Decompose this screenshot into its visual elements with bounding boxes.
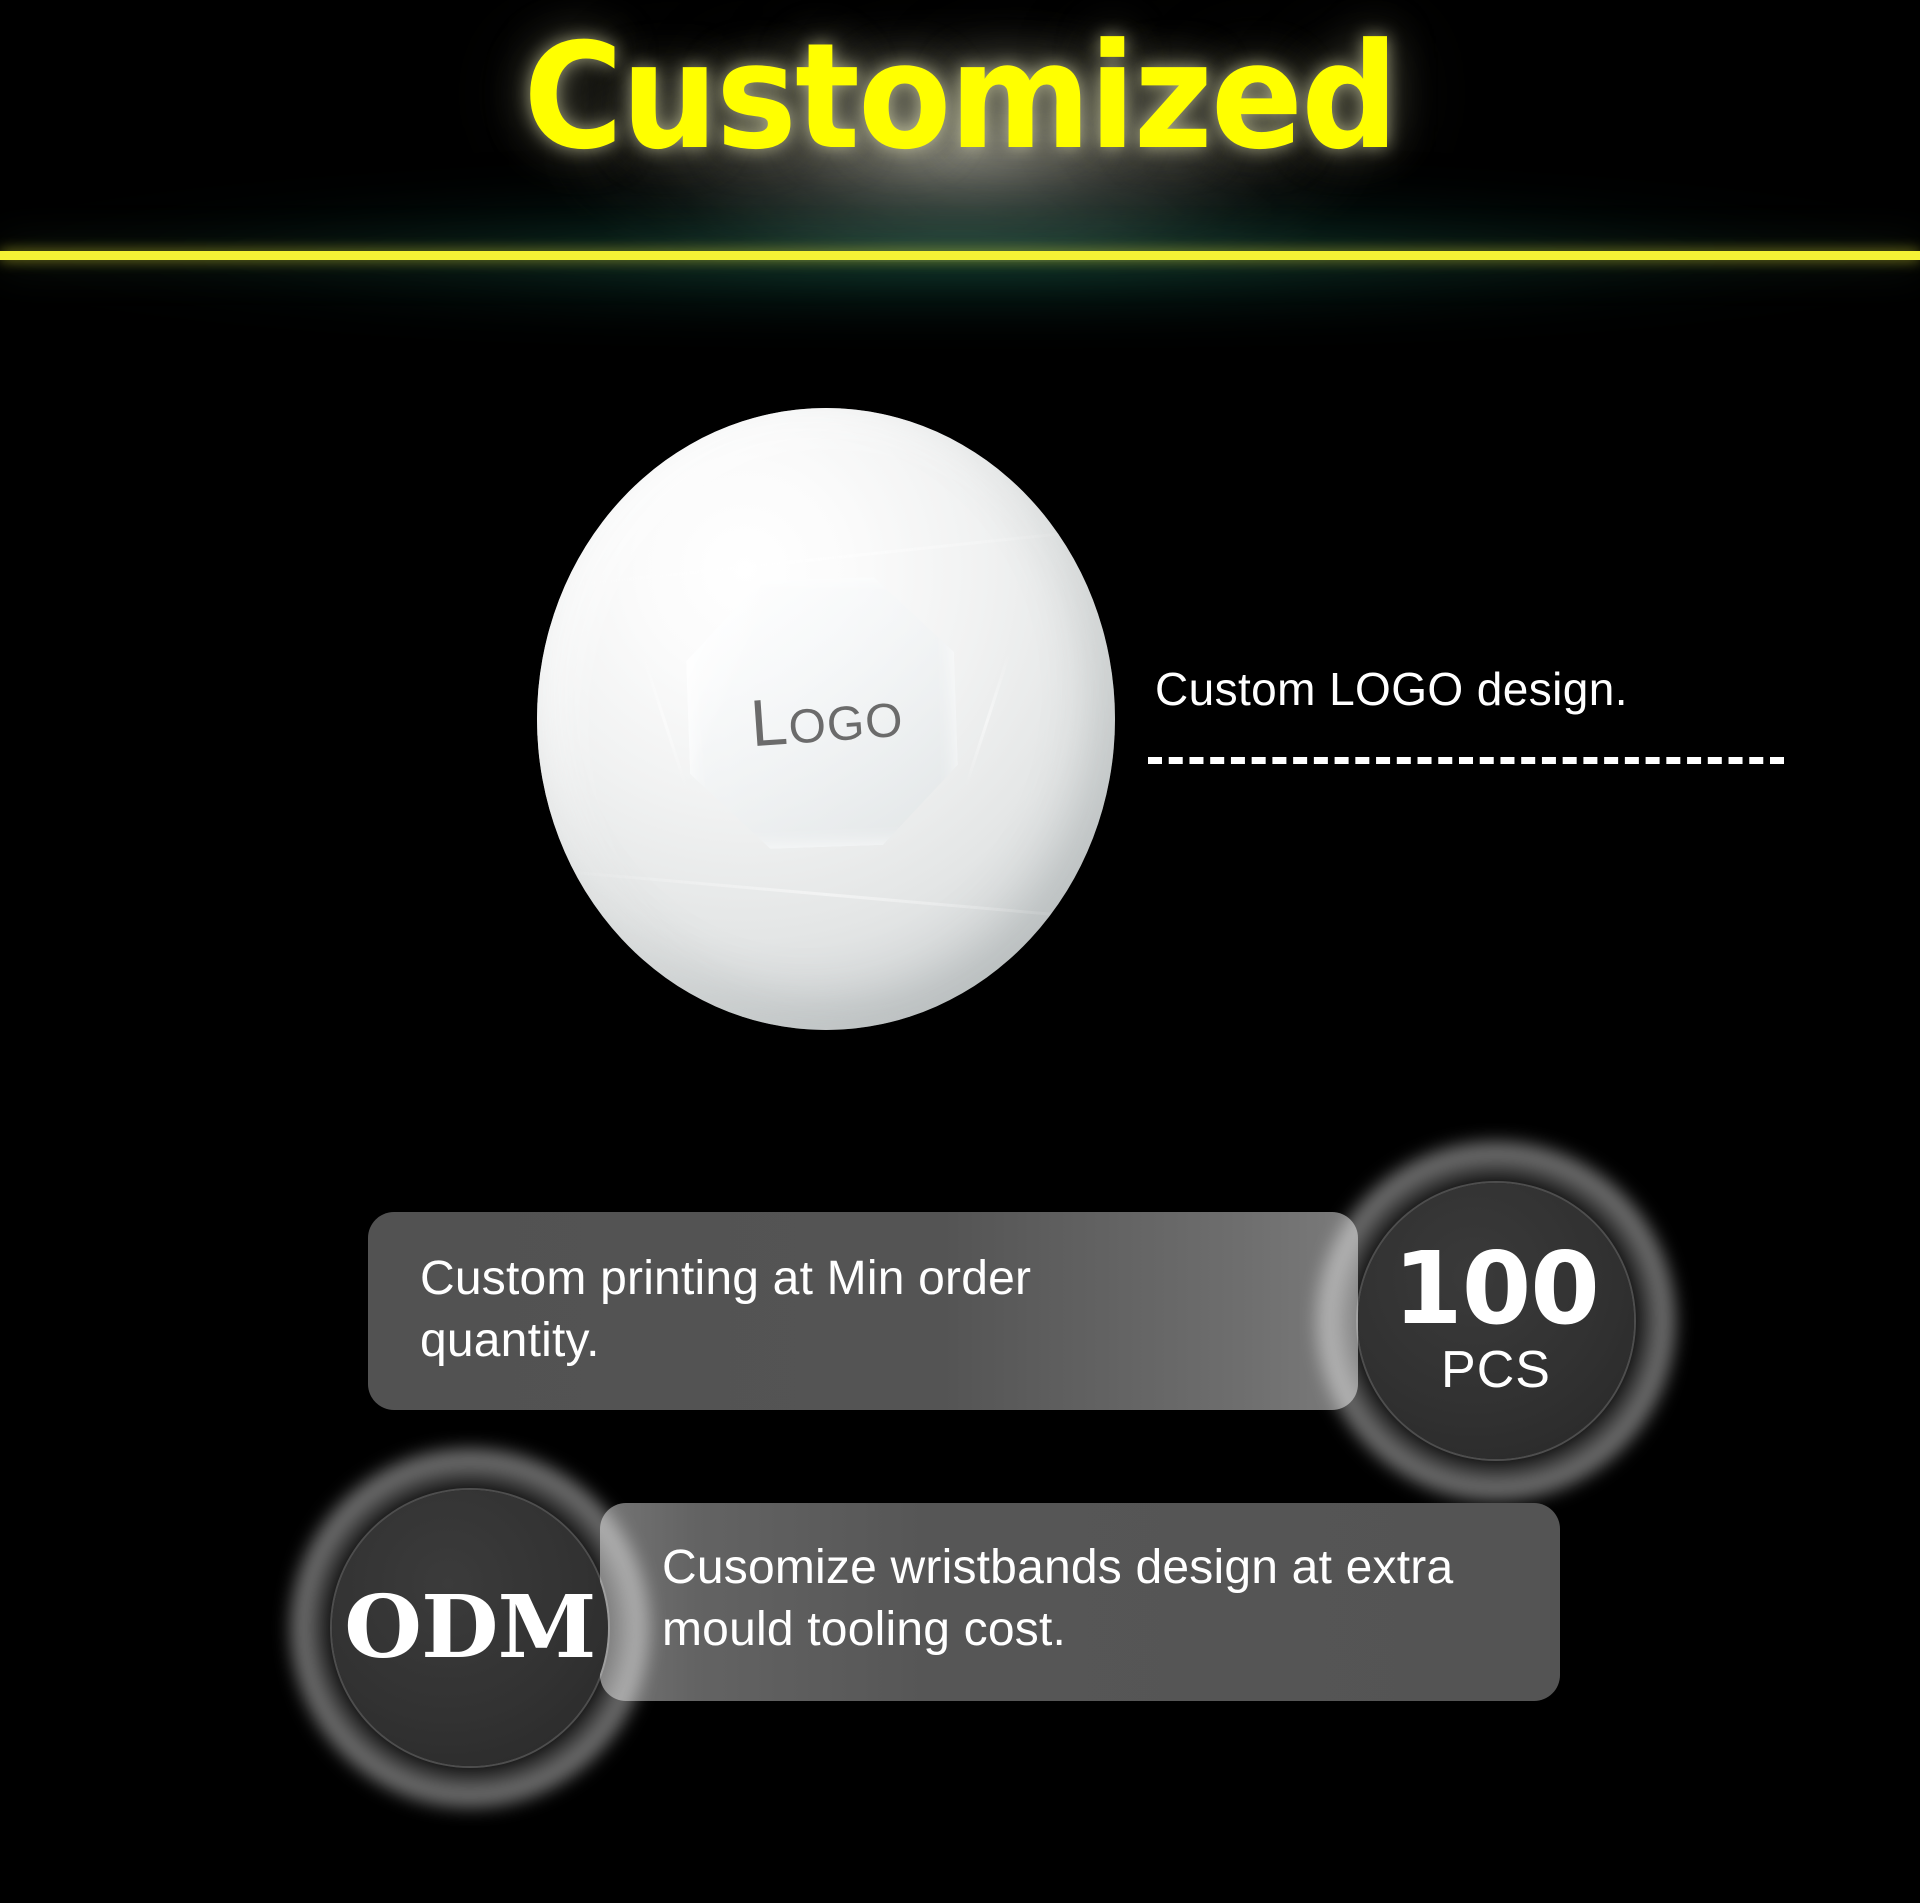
page-title: Customized xyxy=(67,22,1853,172)
callout-leader-line-dashed xyxy=(1148,757,1784,764)
ball-logo-first-letter: L xyxy=(748,684,791,760)
badge-number: 100 xyxy=(1358,1237,1634,1341)
feature-row-odm: Cusomize wristbands design at extra moul… xyxy=(0,1448,1920,1748)
header-band: Customized xyxy=(0,0,1920,262)
feature-bar: Custom printing at Min order quantity. xyxy=(368,1212,1358,1410)
divider-rule xyxy=(0,251,1920,260)
feature-description: Custom printing at Min order quantity. xyxy=(420,1248,1220,1372)
facet-seam xyxy=(965,654,1011,787)
badge-unit: PCS xyxy=(1358,1343,1634,1397)
feature-bar: Cusomize wristbands design at extra moul… xyxy=(600,1503,1560,1701)
badge-odm: ODM xyxy=(332,1490,608,1766)
facet-seam xyxy=(641,654,687,787)
callout-custom-logo-design: Custom LOGO design. xyxy=(1155,663,1855,715)
promo-banner: Customized LOGO Custom LOGO design. Cust… xyxy=(0,0,1920,1903)
callout-label: Custom LOGO design. xyxy=(1155,663,1855,715)
feature-row-min-order-quantity: Custom printing at Min order quantity. 1… xyxy=(0,1205,1920,1425)
badge-label: ODM xyxy=(344,1584,595,1672)
product-ball: LOGO xyxy=(537,408,1115,1030)
feature-description: Cusomize wristbands design at extra moul… xyxy=(662,1537,1502,1661)
ball-logo-rest: OGO xyxy=(787,694,905,755)
badge-min-order-quantity: 100 PCS xyxy=(1358,1183,1634,1459)
facet-seam xyxy=(549,869,1102,920)
